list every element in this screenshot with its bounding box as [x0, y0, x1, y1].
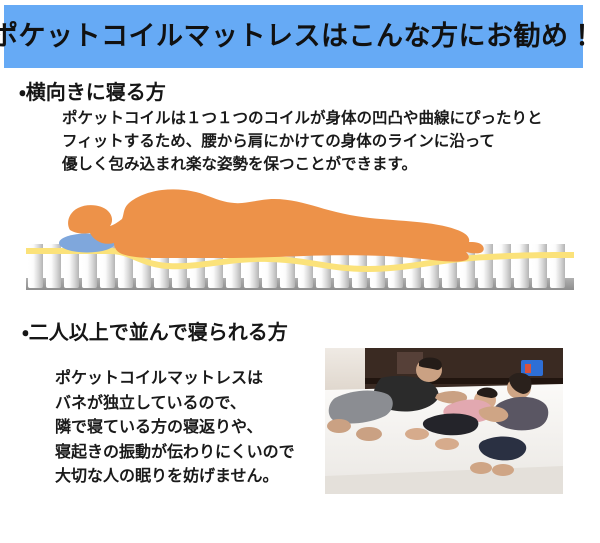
page-title: ポケットコイルマットレスはこんな方にお勧め！: [0, 23, 596, 50]
section-body-side-sleeper: ポケットコイルは１つ１つのコイルが身体の凹凸や曲線にぴったりと フィットするため…: [62, 106, 543, 175]
body-line: 大切な人の眠りを妨げません。: [55, 464, 295, 489]
body-line: フィットするため、腰から肩にかけての身体のラインに沿って: [62, 129, 543, 152]
body-line: 隣で寝ている方の寝返りや、: [55, 415, 295, 440]
body-line: 優しく包み込まれ楽な姿勢を保つことができます。: [62, 152, 543, 175]
body-line: 寝起きの振動が伝わりにくいので: [55, 440, 295, 465]
section-heading-side-sleeper: ・横向きに寝る方: [19, 82, 166, 102]
section-body-two-people: ポケットコイルマットレスは バネが独立しているので、 隣で寝ている方の寝返りや、…: [55, 366, 295, 489]
body-line: ポケットコイルは１つ１つのコイルが身体の凹凸や曲線にぴったりと: [62, 106, 543, 129]
body-line: バネが独立しているので、: [55, 391, 295, 416]
sleeper-silhouette: [68, 189, 484, 261]
family-lying-on-mattress-photo: [325, 348, 563, 494]
photo-blue-object-detail: [525, 364, 531, 373]
section-heading-two-people: ・二人以上で並んで寝られる方: [22, 322, 288, 342]
header-banner: ポケットコイルマットレスはこんな方にお勧め！: [4, 5, 583, 68]
side-sleeper-illustration: [18, 182, 582, 302]
body-line: ポケットコイルマットレスは: [55, 366, 295, 391]
